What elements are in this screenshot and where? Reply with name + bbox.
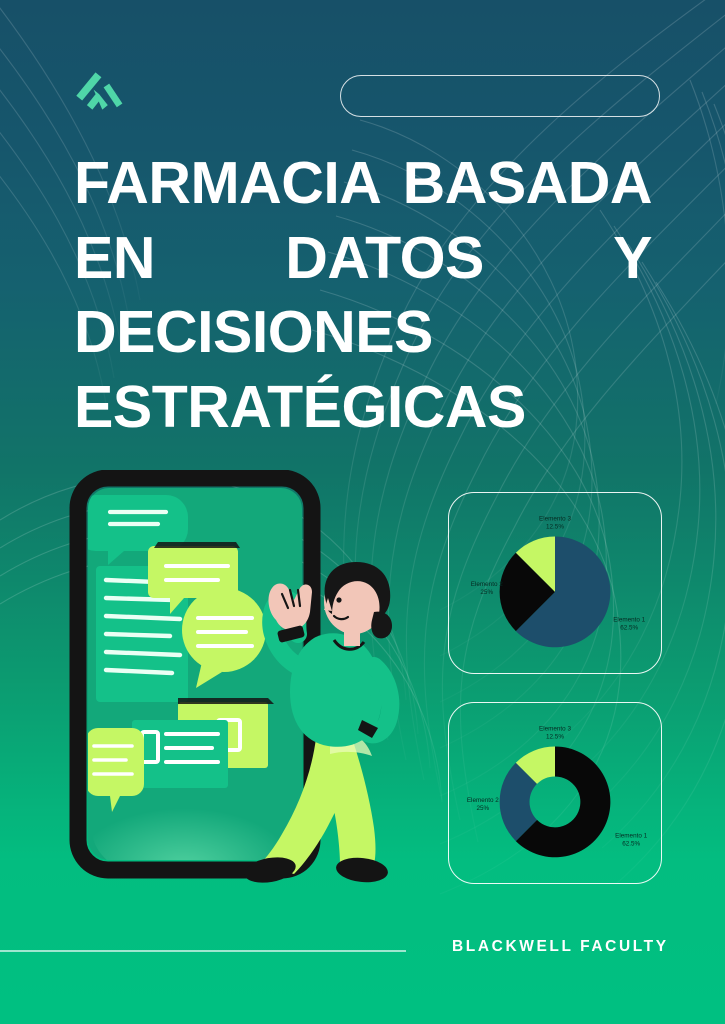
pie-label-elemento-2-name: Elemento 2 [471,581,503,588]
donut-label-elemento-2-value: 25% [476,805,489,812]
donut-label-elemento-3-name: Elemento 3 [539,726,571,733]
donut-label-elemento-2-name: Elemento 2 [467,797,499,804]
donut-label-elemento-3-value: 12.5% [546,734,564,741]
pie-label-elemento-3-name: Elemento 3 [539,516,571,523]
blackwell-chevron-logo-icon [70,70,126,118]
footer-divider [0,950,406,952]
pie-label-elemento-3-value: 12.5% [546,524,564,531]
pie-label-elemento-1-name: Elemento 1 [613,617,645,624]
donut-chart-card[interactable]: Elemento 3 12.5% Elemento 2 25% Elemento… [448,702,662,884]
pie-chart-card[interactable]: Elemento 3 12.5% Elemento 2 25% Elemento… [448,492,662,674]
document-card-list [132,720,228,788]
donut-chart: Elemento 3 12.5% Elemento 2 25% Elemento… [449,703,661,883]
person-stepping-out-of-tablet-illustration [62,470,424,890]
poster-canvas: FARMACIA BASADA EN DATOS Y DECISIONES ES… [0,0,725,1024]
donut-label-elemento-1-value: 62.5% [622,840,640,847]
page-title-text: FARMACIA BASADA EN DATOS Y DECISIONES ES… [74,146,652,519]
page-title: FARMACIA BASADA EN DATOS Y DECISIONES ES… [74,146,652,519]
pie-label-elemento-1-value: 62.5% [620,624,638,631]
pie-label-elemento-2-value: 25% [480,589,493,596]
header-pill-placeholder[interactable] [340,75,660,117]
footer-brand-name: BLACKWELL FACULTY [452,938,669,956]
pie-chart: Elemento 3 12.5% Elemento 2 25% Elemento… [449,493,661,673]
donut-label-elemento-1-name: Elemento 1 [615,833,647,840]
